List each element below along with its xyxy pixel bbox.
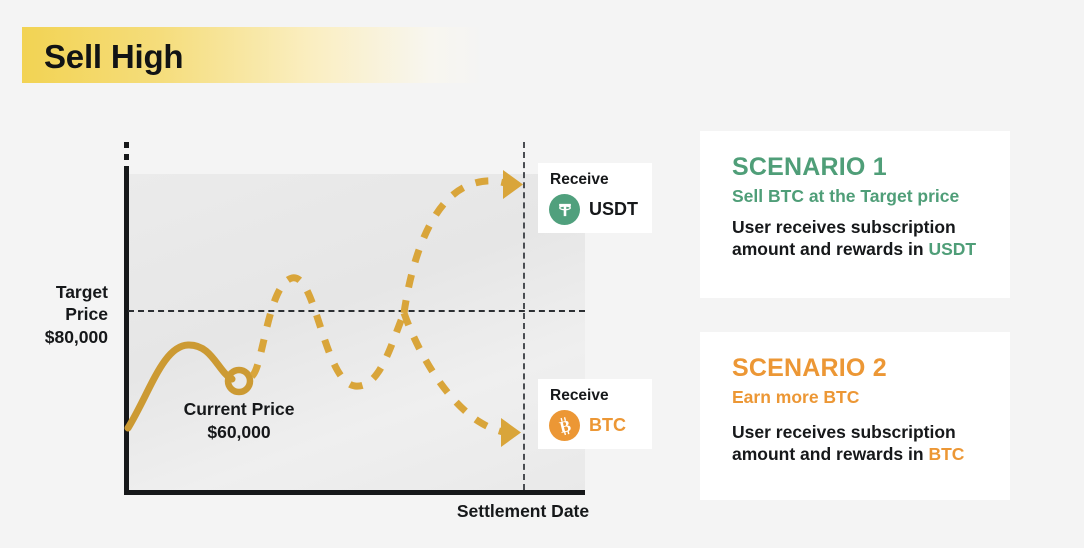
arrow-up-branch-head (503, 170, 523, 199)
receive-btc-title: Receive (550, 387, 609, 405)
receive-usdt-row: USDT (549, 194, 638, 225)
scenario-1-body-accent: USDT (928, 239, 976, 259)
scenario-1-heading: SCENARIO 1 (732, 153, 887, 182)
target-price-label: Target Price $80,000 (0, 281, 108, 348)
current-price-annotation-label: Current Price (148, 398, 330, 421)
scenario-2-body: User receives subscription amount and re… (732, 422, 994, 466)
projected-price-down-branch (404, 313, 503, 432)
receive-btc-coin-label: BTC (589, 415, 626, 436)
current-price-annotation-value: $60,000 (148, 421, 330, 444)
projected-price-up-branch (404, 181, 505, 313)
price-chart: Target Price $80,000 Current Price $60,0… (0, 0, 700, 548)
settlement-date-label: Settlement Date (398, 501, 648, 522)
price-curves (0, 0, 700, 548)
target-price-label-line1: Target (0, 281, 108, 303)
arrow-down-branch-head (501, 418, 521, 447)
projected-price-curve (252, 278, 404, 386)
bitcoin-icon: B (549, 410, 580, 441)
target-price-label-line2: Price (0, 303, 108, 325)
scenario-1-body: User receives subscription amount and re… (732, 217, 994, 261)
receive-btc-row: B BTC (549, 410, 626, 441)
tether-icon (549, 194, 580, 225)
receive-usdt-callout: Receive USDT (538, 163, 652, 233)
scenario-2-heading: SCENARIO 2 (732, 354, 887, 383)
scenario-2-body-text: User receives subscription amount and re… (732, 422, 956, 464)
receive-usdt-title: Receive (550, 171, 609, 189)
scenario-card-1: SCENARIO 1 Sell BTC at the Target price … (700, 131, 1010, 298)
target-price-value: $80,000 (0, 326, 108, 348)
receive-usdt-coin-label: USDT (589, 199, 638, 220)
scenario-1-subtitle: Sell BTC at the Target price (732, 186, 959, 207)
scenario-2-body-accent: BTC (928, 444, 964, 464)
current-price-annotation: Current Price $60,000 (148, 398, 330, 444)
scenario-2-subtitle: Earn more BTC (732, 387, 859, 408)
receive-btc-callout: Receive B BTC (538, 379, 652, 449)
scenario-1-body-text: User receives subscription amount and re… (732, 217, 956, 259)
scenario-card-2: SCENARIO 2 Earn more BTC User receives s… (700, 332, 1010, 500)
